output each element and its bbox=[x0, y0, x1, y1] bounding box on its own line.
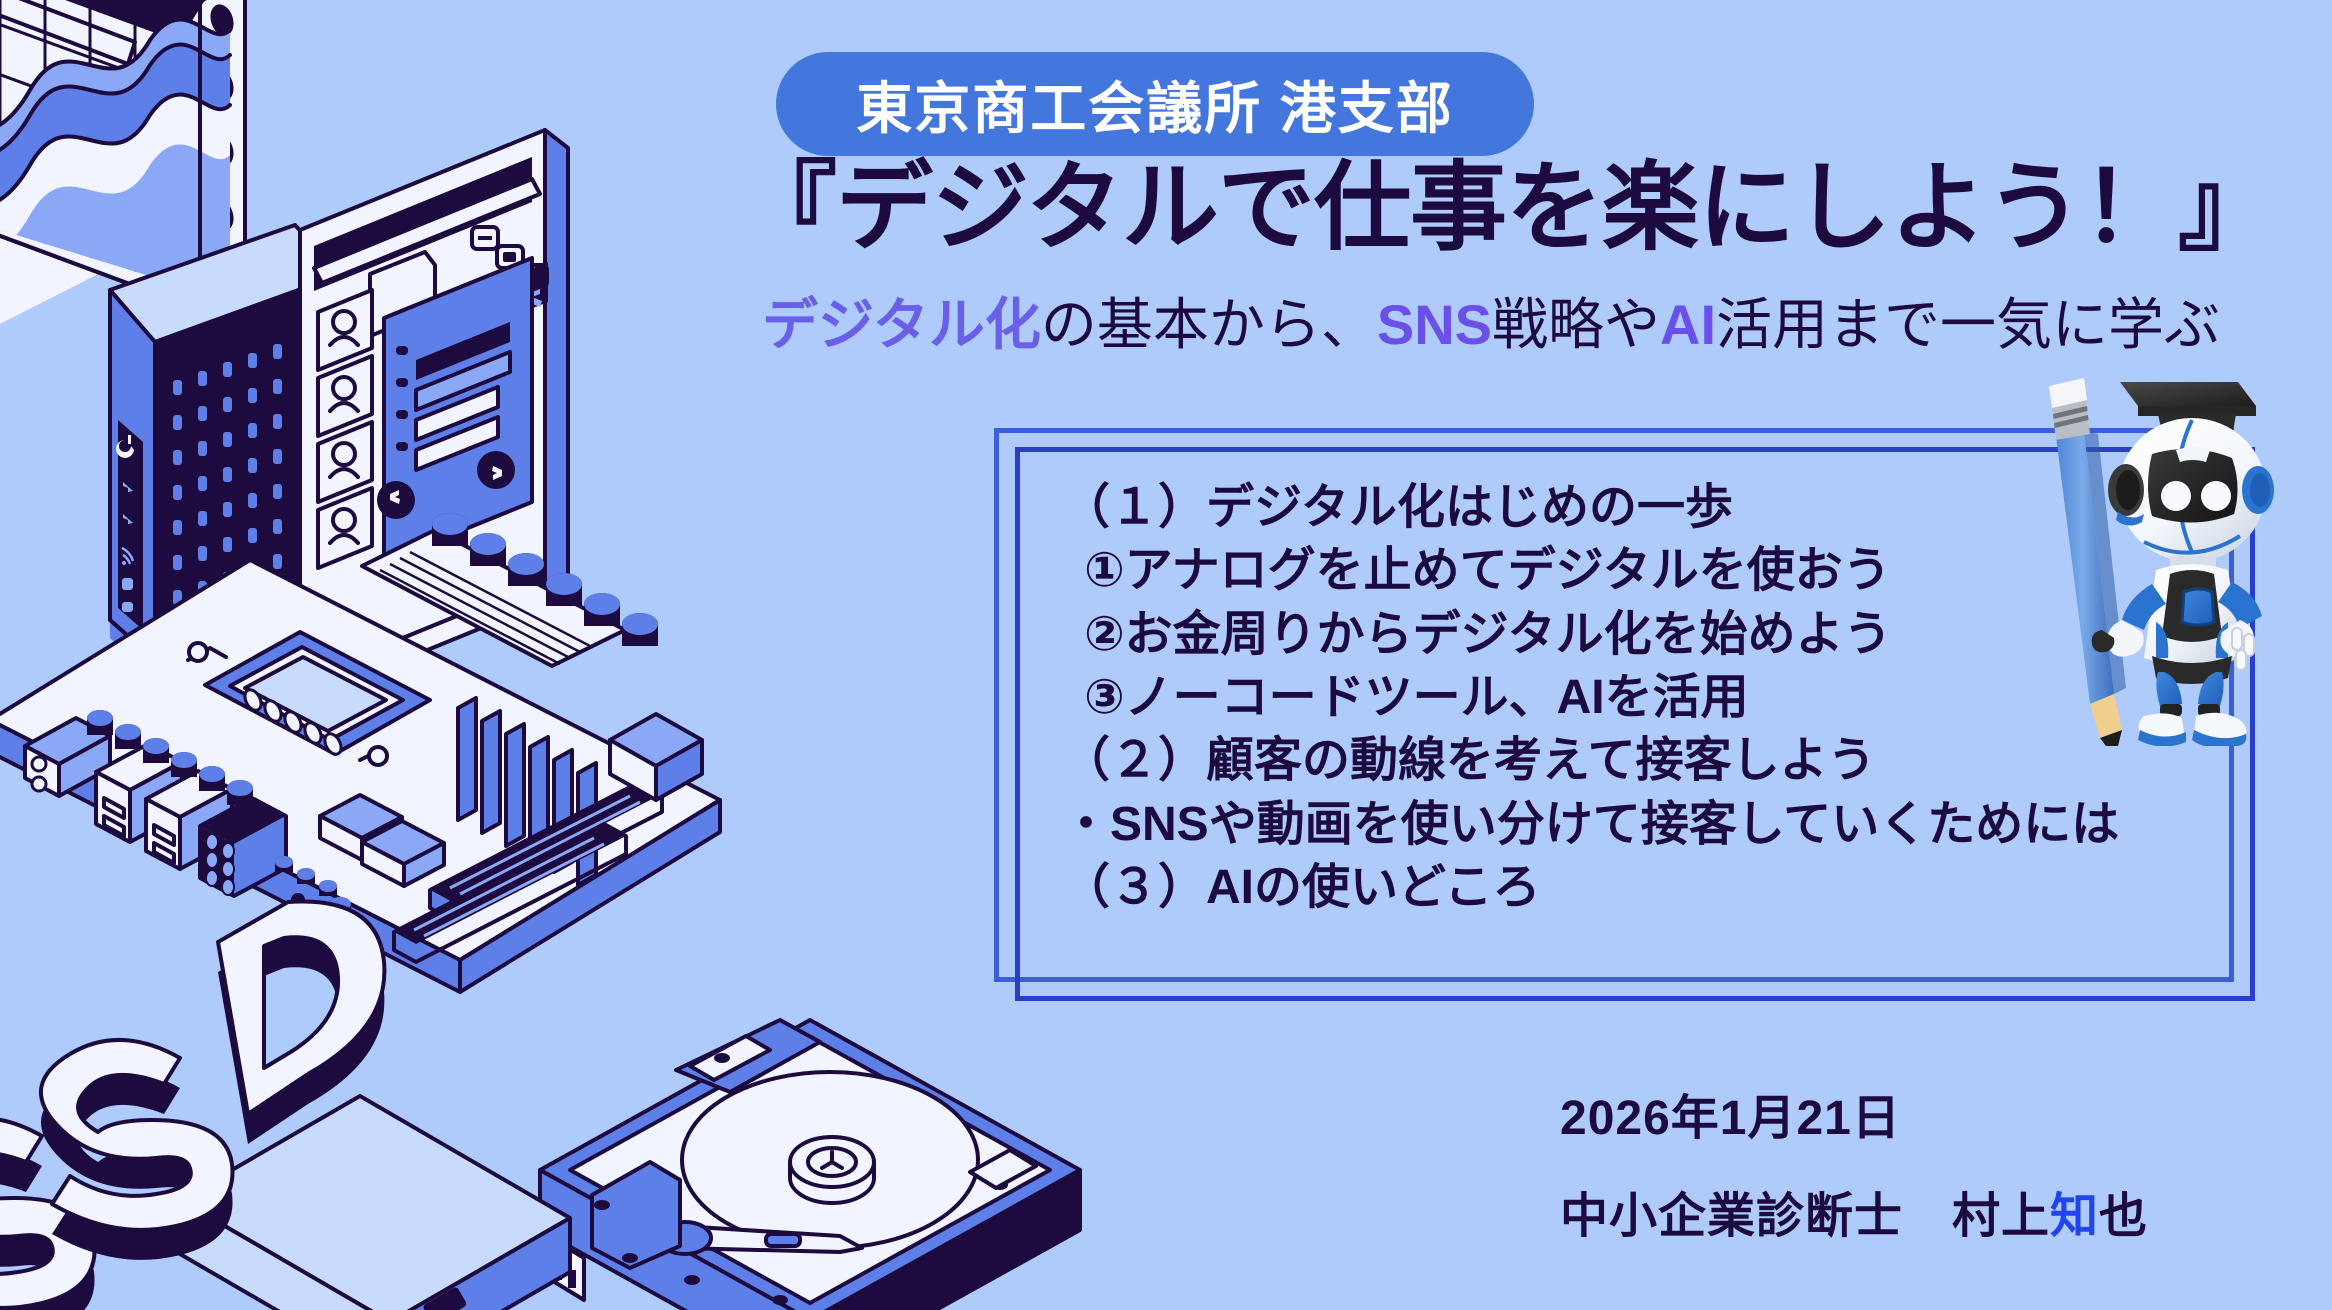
presenter-name-prefix: 中小企業診断士 村上 bbox=[1560, 1190, 2050, 1243]
presenter-name: 中小企業診断士 村上知也 bbox=[1560, 1176, 2148, 1246]
subtitle-text-3: 活用まで一気に学ぶ bbox=[1716, 293, 2220, 356]
organization-badge: 東京商工会議所 港支部 bbox=[776, 52, 1534, 156]
subtitle-highlight-ai: AI bbox=[1660, 293, 1716, 356]
organization-badge-label: 東京商工会議所 港支部 bbox=[856, 64, 1454, 145]
subtitle-highlight-sns: SNS bbox=[1377, 293, 1492, 356]
presenter-name-accent: 知 bbox=[2050, 1190, 2099, 1243]
agenda-item: ・SNSや動画を使い分けて接客していくためには bbox=[1040, 793, 2260, 856]
subtitle-text-2: 戦略や bbox=[1492, 293, 1660, 356]
pencil-icon bbox=[2049, 378, 2126, 746]
presenter-name-suffix: 也 bbox=[2099, 1190, 2148, 1243]
subtitle-text-1: の基本から、 bbox=[1041, 293, 1377, 356]
slide-title: 『デジタルで仕事を楽にしよう！』 bbox=[740, 155, 2300, 262]
slide-subtitle: デジタル化の基本から、SNS戦略やAI活用まで一気に学ぶ bbox=[762, 293, 2322, 357]
footer-info: 2026年1月21日 中小企業診断士 村上知也 bbox=[1560, 1078, 2148, 1246]
robot-with-pencil-illustration bbox=[2040, 378, 2330, 746]
agenda-item: （３）AIの使いどころ bbox=[1040, 856, 2260, 919]
hard-disk-drive-illustration bbox=[540, 1020, 1080, 1310]
event-date: 2026年1月21日 bbox=[1560, 1078, 2148, 1148]
subtitle-highlight-digital: デジタル化 bbox=[762, 293, 1041, 356]
presentation-slide: .ink{ fill:#1d0b3f; } .wh { fill:#f2f5ff… bbox=[0, 0, 2332, 1310]
